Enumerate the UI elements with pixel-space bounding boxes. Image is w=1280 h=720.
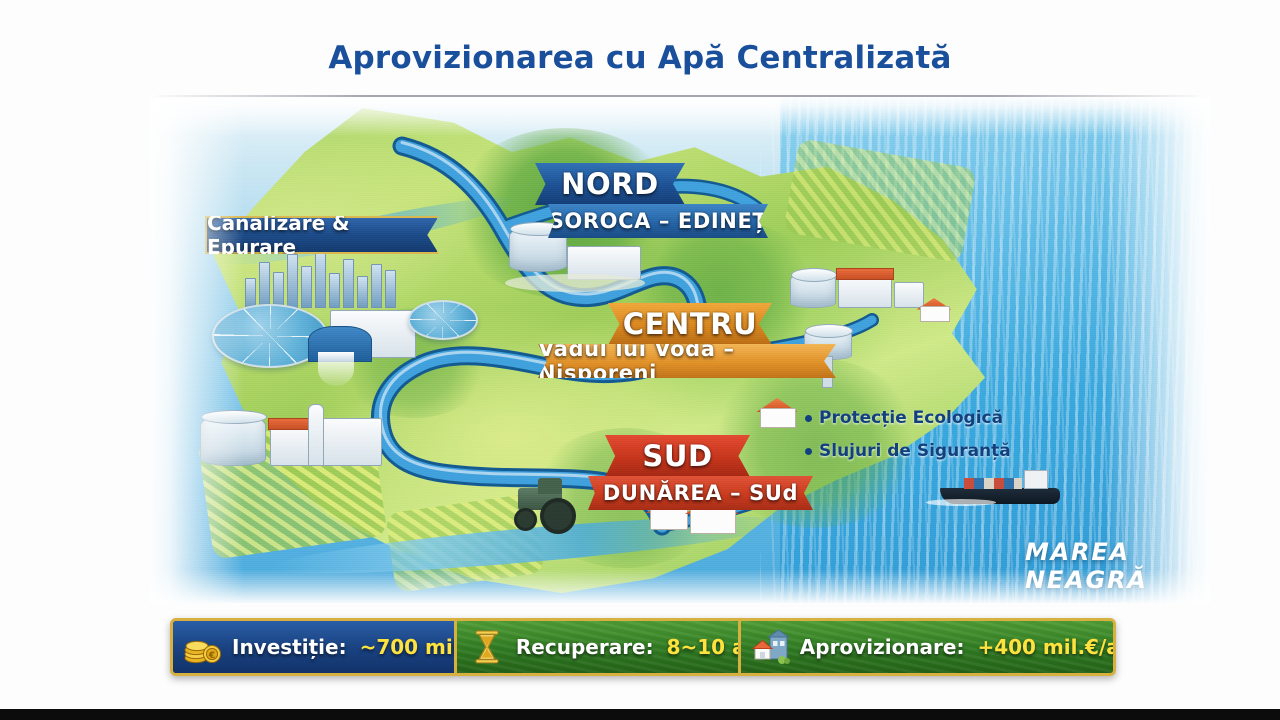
plant-building: [322, 418, 382, 466]
infographic-canvas: Aprovizionarea cu Apă Centralizată: [0, 0, 1280, 720]
stat-investitie[interactable]: € Investiție: ~700 mil. €: [173, 621, 454, 673]
title-divider: [158, 95, 1198, 97]
summary-stats-bar: € Investiție: ~700 mil. € Recu: [170, 618, 1116, 676]
ship-bridge: [1024, 470, 1048, 489]
bullet-dot-icon: [805, 448, 812, 455]
stat-text-investitie: Investiție: ~700 mil. €: [232, 635, 488, 659]
house-body: [650, 509, 688, 530]
canalizare-epurare-plaque[interactable]: Canalizare & Epurare: [205, 216, 439, 254]
list-item: Protecție Ecologică: [805, 408, 1011, 428]
stat-value-aprovizionare: +400 mil.€/an: [977, 635, 1116, 659]
region-banner-nord[interactable]: NORD: [535, 163, 685, 205]
tank-lid: [201, 410, 267, 424]
house-body: [920, 306, 950, 322]
region-name-centru: CENTRU: [623, 307, 758, 341]
list-item: Slujuri de Siguranță: [805, 441, 1011, 461]
tank-lid: [791, 268, 837, 282]
water-discharge: [318, 352, 354, 386]
region-route-centru[interactable]: Vadul lui Vodă – Nisporeni: [538, 344, 836, 378]
region-route-nord[interactable]: SOROCA – EDINEȚ: [548, 204, 768, 238]
benefit-label: Protecție Ecologică: [819, 408, 1003, 428]
storage-tank: [790, 272, 836, 308]
tractor-icon: [500, 478, 580, 530]
region-name-sud: SUD: [642, 439, 712, 473]
stat-text-recuperare: Recuperare: 8~10 ani: [516, 635, 767, 659]
industrial-water-facility: [190, 388, 400, 498]
stat-recuperare[interactable]: Recuperare: 8~10 ani: [454, 621, 738, 673]
station-building: [838, 276, 892, 308]
ship-containers: [964, 478, 1022, 489]
bullet-dot-icon: [805, 415, 812, 422]
stat-label-recuperare: Recuperare:: [516, 635, 654, 659]
page-title: Aprovizionarea cu Apă Centralizată: [0, 40, 1280, 76]
region-banner-centru[interactable]: CENTRU: [608, 303, 772, 345]
hourglass-icon: [467, 628, 507, 666]
benefit-label: Slujuri de Siguranță: [819, 441, 1011, 461]
house-body: [690, 509, 736, 534]
region-route-sud[interactable]: DUNĂREA – SUd: [588, 476, 813, 510]
ship-wake: [926, 499, 996, 506]
tractor-front-wheel: [514, 508, 537, 531]
plaque-label: Canalizare & Epurare: [207, 211, 437, 259]
house-body: [760, 408, 796, 428]
svg-text:€: €: [208, 651, 215, 661]
map-illustration: Canalizare & Epurare NORD SOROCA – EDINE…: [150, 98, 1210, 603]
village-house: [760, 398, 794, 428]
station-base: [505, 274, 645, 292]
screen-bottom-bar: [0, 709, 1280, 720]
sea-label: MAREA NEAGRĂ: [1025, 538, 1210, 594]
stat-label-aprovizionare: Aprovizionare:: [800, 635, 965, 659]
title-area: Aprovizionarea cu Apă Centralizată: [0, 40, 1280, 76]
orange-roof: [836, 268, 894, 280]
region-route-label-sud: DUNĂREA – SUd: [603, 481, 798, 505]
village-house: [920, 298, 948, 322]
region-route-label-centru: Vadul lui Vodă – Nisporeni: [538, 337, 836, 385]
region-name-nord: NORD: [561, 167, 659, 201]
stat-text-aprovizionare: Aprovizionare: +400 mil.€/an: [800, 635, 1116, 659]
silo: [308, 404, 324, 466]
region-banner-sud[interactable]: SUD: [605, 435, 750, 477]
stat-aprovizionare[interactable]: Aprovizionare: +400 mil.€/an: [738, 621, 1113, 673]
stat-label-investitie: Investiție:: [232, 635, 347, 659]
tank-lid: [805, 324, 853, 338]
benefits-list: Protecție Ecologică Slujuri de Siguranță: [805, 408, 1011, 474]
tractor-cab: [538, 478, 562, 494]
storage-tank: [200, 414, 266, 466]
city-skyline-icon: [245, 252, 396, 308]
gold-coins-icon: €: [183, 628, 223, 666]
secondary-clarifier-tank: [408, 300, 478, 340]
tractor-rear-wheel: [540, 498, 576, 534]
region-route-label-nord: SOROCA – EDINEȚ: [549, 209, 768, 233]
water-facility-icon: [751, 628, 791, 666]
